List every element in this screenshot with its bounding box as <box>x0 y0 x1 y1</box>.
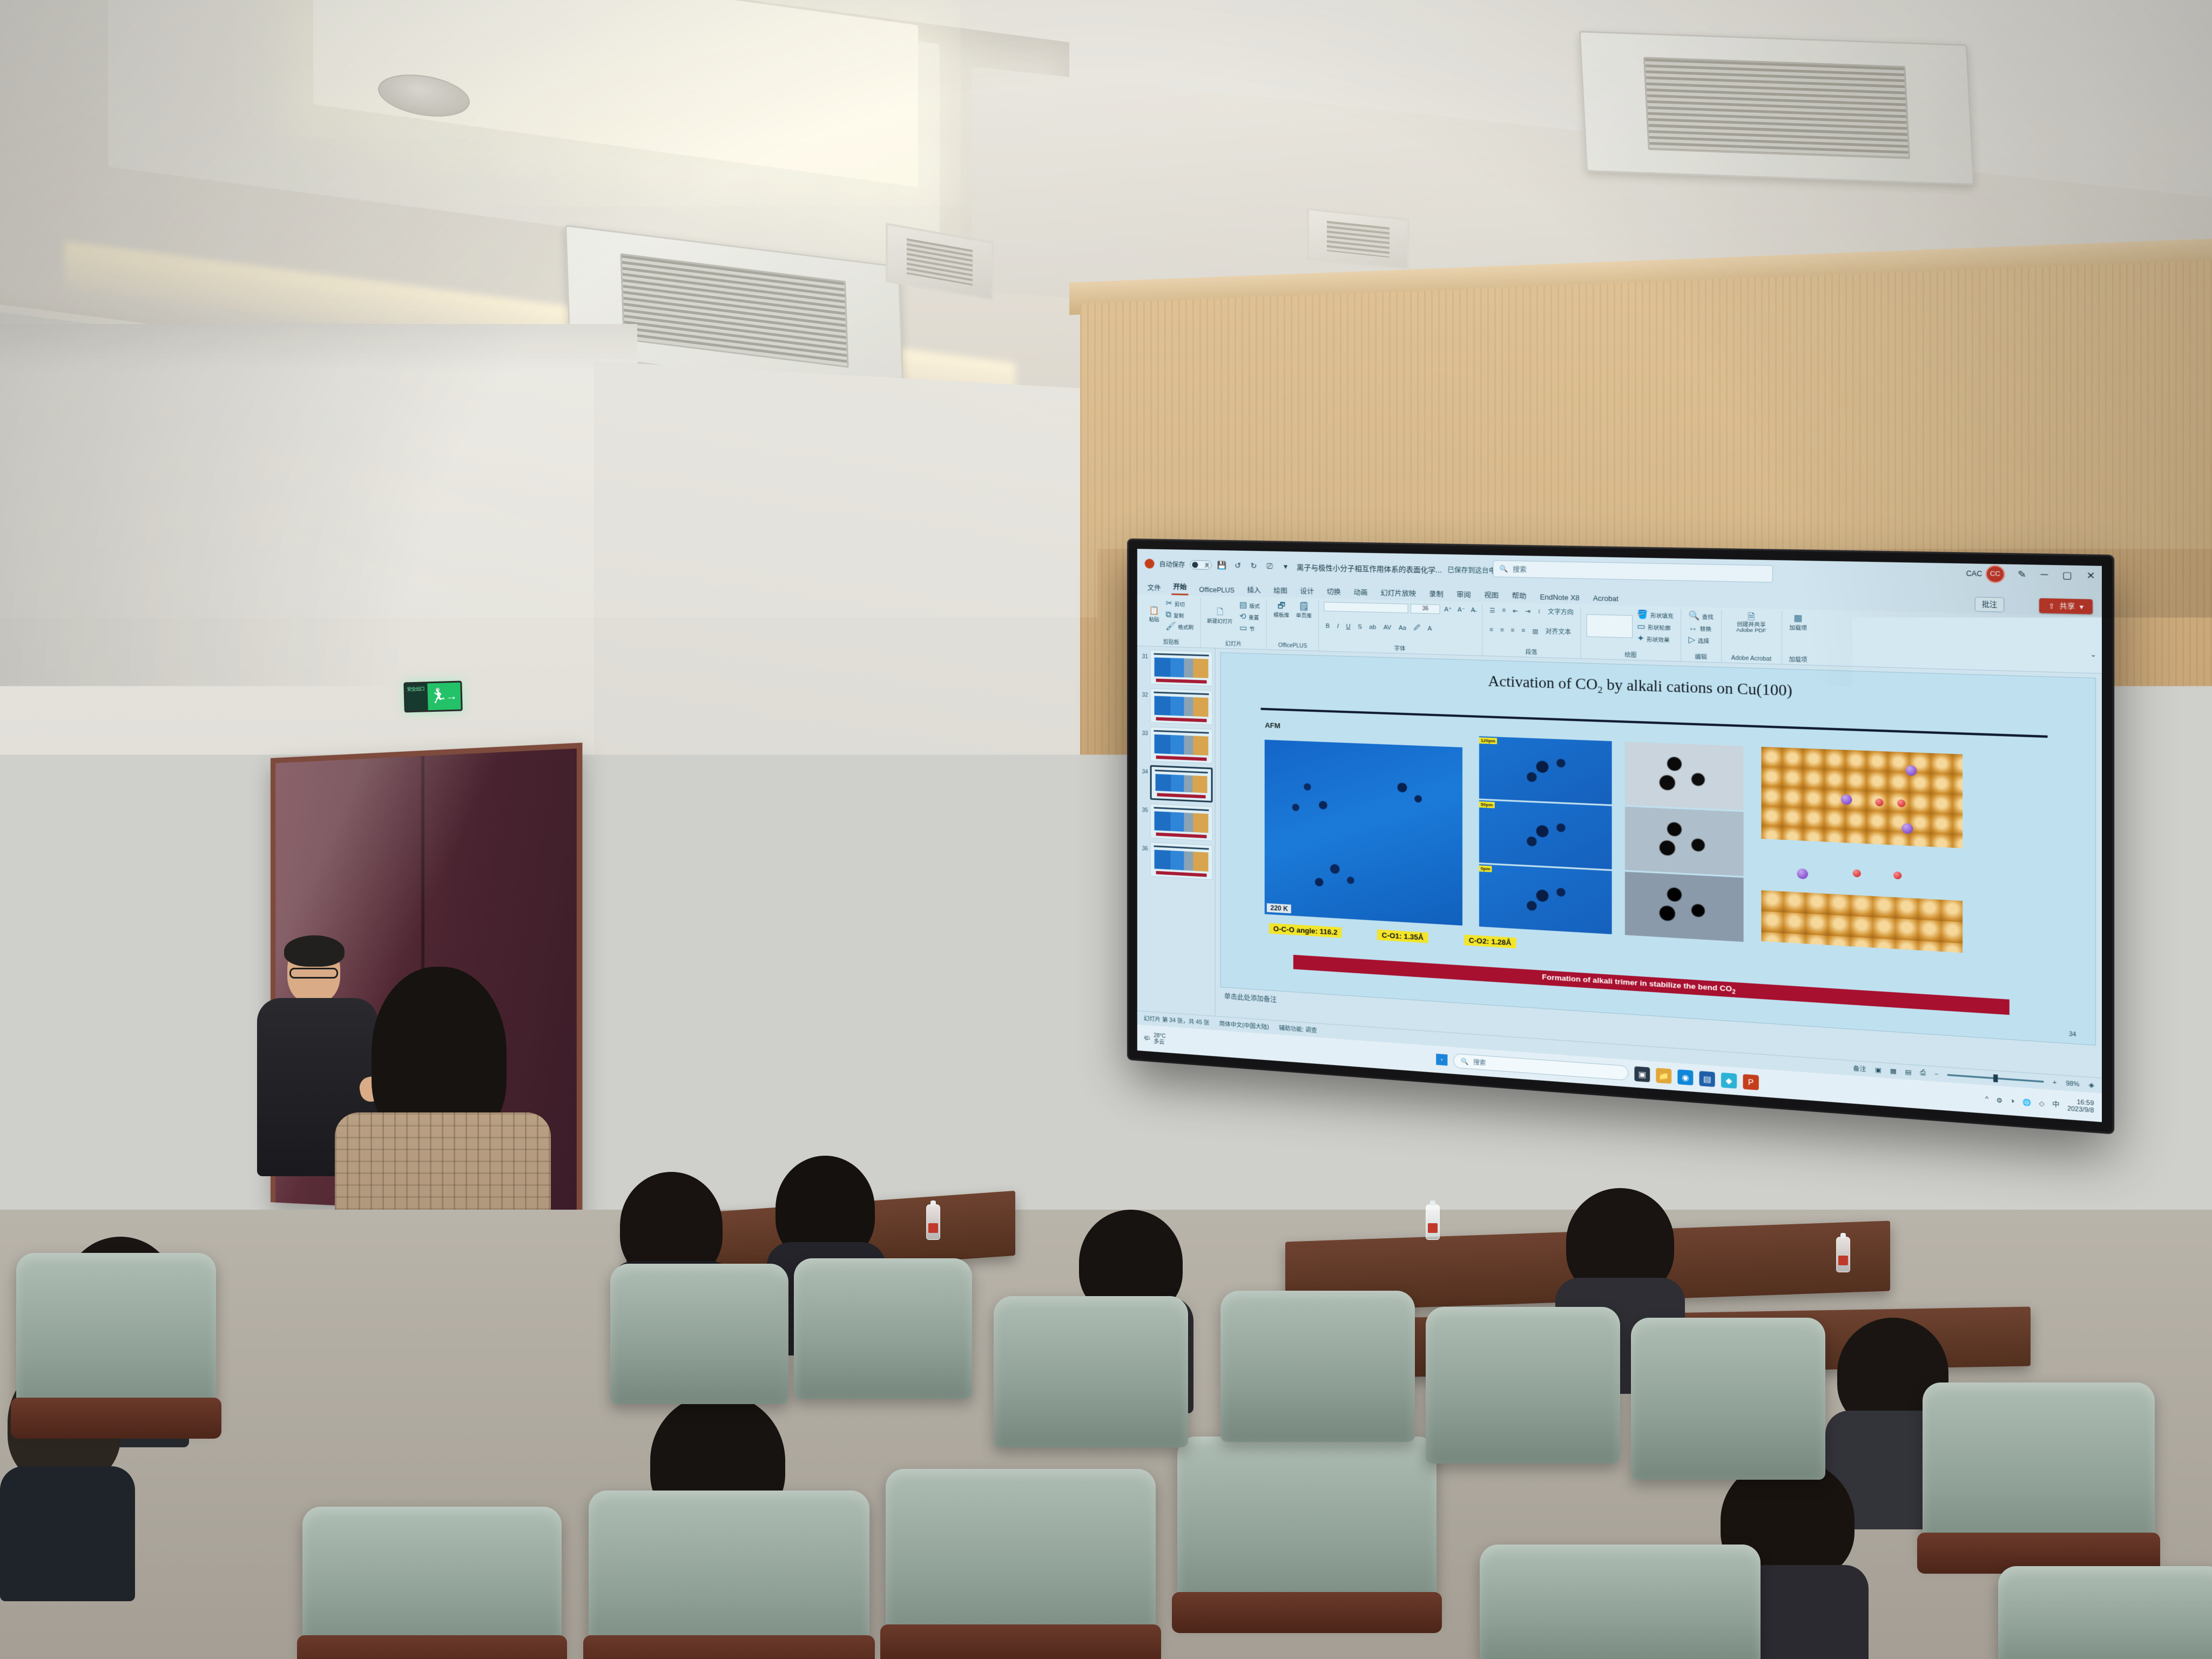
new-slide-label: 新建幻灯片 <box>1207 616 1233 624</box>
present-icon[interactable]: ⎚ <box>1264 561 1275 572</box>
shape-gallery[interactable] <box>1587 614 1633 638</box>
redo-icon[interactable]: ↻ <box>1248 560 1259 571</box>
section-label: 节 <box>1250 624 1255 632</box>
ribbon-group-paragraph: ☰ ≡ ⇤ ⇥ ↕ 文字方向 ≡ ≡ ≡ ≡ ▥ 对齐文本 <box>1482 604 1581 658</box>
editor-body: 31 32 33 34 <box>1137 646 2102 1077</box>
file-explorer-icon[interactable]: 📁 <box>1656 1068 1671 1084</box>
shape-fill-label: 形状填充 <box>1650 611 1673 619</box>
slide-number: 34 <box>2069 1031 2076 1038</box>
create-share-pdf-label: 创建并共享 Adobe PDF <box>1729 622 1774 635</box>
underline-icon[interactable]: U <box>1344 623 1352 630</box>
alkali-cation <box>1841 794 1852 805</box>
seat <box>994 1296 1188 1447</box>
chevron-down-icon: ▾ <box>2080 602 2083 611</box>
edge-icon[interactable]: ◉ <box>1677 1069 1693 1085</box>
fit-to-window-icon[interactable]: ◈ <box>2089 1081 2094 1089</box>
addins-button[interactable]: ▦ 加载项 <box>1788 612 1809 633</box>
height-label: 120pm <box>1479 737 1498 744</box>
store-icon[interactable]: ▤ <box>1700 1071 1715 1087</box>
addins-icon: ▦ <box>1793 614 1802 623</box>
zoom-slider[interactable] <box>1947 1074 2044 1083</box>
shape-outline-button[interactable]: ▭形状轮廓 <box>1635 621 1675 633</box>
tab-shitu[interactable]: 视图 <box>1482 588 1500 603</box>
tab-kaishi[interactable]: 开始 <box>1171 580 1188 596</box>
ribbon-group-officeplus: 🗗 模板库 🗒 单页库 OfficePLUS <box>1267 599 1319 651</box>
increase-font-icon[interactable]: A⁺ <box>1442 606 1453 613</box>
italic-icon[interactable]: I <box>1336 623 1340 630</box>
clock-date: 2023/9/8 <box>2067 1105 2094 1114</box>
afm-height-series: 120pm 50pm 0pm <box>1479 736 1611 934</box>
numbering-icon[interactable]: ≡ <box>1500 607 1507 614</box>
template-label: 模板库 <box>1273 611 1289 619</box>
share-icon: ⇪ <box>2048 602 2055 610</box>
tab-bangzhu[interactable]: 帮助 <box>1510 589 1528 603</box>
change-case-icon[interactable]: Aa <box>1397 624 1408 631</box>
copper-atom-row <box>1762 891 1963 953</box>
reset-label: 重置 <box>1249 613 1259 621</box>
presenter-laptop <box>786 968 867 1009</box>
slide-title[interactable]: Activation of CO2 by alkali cations on C… <box>1269 666 2038 710</box>
close-icon[interactable]: ✕ <box>2087 570 2095 582</box>
emergency-exit-sign: 安全出口 <box>403 681 463 713</box>
wall-outlet <box>162 994 191 1020</box>
copper-surface-side-view[interactable] <box>1762 857 1963 953</box>
layout-button[interactable]: ▤版式 <box>1238 600 1262 611</box>
layout-label: 版式 <box>1250 602 1260 610</box>
seat <box>1220 1291 1415 1442</box>
paste-label: 粘贴 <box>1149 615 1159 623</box>
water-bottle <box>1836 1237 1850 1272</box>
afm-label: AFM <box>1265 721 1280 730</box>
ribbon-group-clipboard: 📋 粘贴 ✂剪切 ⧉复制 🖌格式刷 剪贴板 <box>1143 597 1201 648</box>
tab-wenjian[interactable]: 文件 <box>1146 581 1163 595</box>
group-label-clipboard: 剪贴板 <box>1148 636 1195 646</box>
thumbnail-number: 35 <box>1139 803 1148 814</box>
accessibility-label[interactable]: 辅助功能: 调查 <box>1279 1024 1317 1035</box>
reading-view-icon[interactable]: ▤ <box>1905 1068 1912 1076</box>
tab-luzhi[interactable]: 录制 <box>1427 587 1445 602</box>
ime-icon[interactable]: 中 <box>2052 1100 2059 1110</box>
autosave-state: 关 <box>1204 561 1209 568</box>
weather-icon: 🌤 <box>1144 1035 1151 1042</box>
align-right-icon[interactable]: ≡ <box>1509 627 1516 634</box>
simulation-series <box>1624 741 1743 942</box>
format-painter-icon: 🖌 <box>1165 622 1176 631</box>
seat <box>1923 1382 2155 1561</box>
shape-fill-icon: 🪣 <box>1637 610 1648 619</box>
current-slide[interactable]: Activation of CO2 by alkali cations on C… <box>1221 653 2095 1045</box>
thumbnail-number: 31 <box>1139 650 1148 660</box>
show-hidden-icons[interactable]: ^ <box>1985 1096 1988 1103</box>
font-size-input[interactable]: 36 <box>1411 604 1440 614</box>
group-label-drawing: 绘图 <box>1587 648 1675 660</box>
tab-endnote[interactable]: EndNote X8 <box>1538 592 1581 604</box>
afm-height-panel[interactable]: 0pm <box>1479 864 1611 934</box>
tab-acrobat[interactable]: Acrobat <box>1591 594 1621 605</box>
layout-icon: ▤ <box>1239 601 1247 610</box>
weather-desc: 多云 <box>1154 1038 1165 1046</box>
find-button[interactable]: 🔍查找 <box>1687 610 1715 622</box>
wechat-work-icon[interactable]: ◆ <box>1721 1073 1737 1089</box>
align-text-button[interactable]: 对齐文本 <box>1543 626 1573 636</box>
shape-effects-icon: ✦ <box>1637 634 1644 643</box>
copper-surface-top-view[interactable] <box>1762 746 1963 848</box>
search-placeholder: 搜索 <box>1513 564 1527 574</box>
seat <box>302 1507 562 1659</box>
powerpoint-icon[interactable]: P <box>1743 1074 1758 1090</box>
paste-button[interactable]: 📋 粘贴 <box>1148 605 1161 624</box>
thumbnail-preview[interactable] <box>1150 688 1213 725</box>
zoom-out-icon[interactable]: − <box>1934 1070 1938 1078</box>
copy-label: 复制 <box>1174 611 1184 619</box>
notes-button[interactable]: 备注 <box>1853 1064 1866 1074</box>
scissors-icon: ✂ <box>1165 599 1172 608</box>
alkali-cation <box>1901 823 1913 834</box>
ceiling-square-vent <box>1307 208 1410 271</box>
slide-sorter-icon[interactable]: ▩ <box>1890 1067 1897 1075</box>
thumbnail-item[interactable]: 31 <box>1139 650 1213 687</box>
simulation-panel[interactable] <box>1624 741 1743 810</box>
slide-title-suffix: by alkali cations on Cu(100) <box>1603 676 1792 699</box>
thumbnail-preview[interactable] <box>1150 842 1213 880</box>
decrease-indent-icon[interactable]: ⇤ <box>1511 607 1520 615</box>
powerpoint-window: 自动保存 关 💾 ↺ ↻ ⎚ ▾ 离子与极性小分子相互作用体系的表面化学... … <box>1137 549 2102 1122</box>
replace-button[interactable]: ↔替换 <box>1687 622 1713 633</box>
reset-icon: ⟲ <box>1239 612 1246 621</box>
oxygen-atom <box>1897 799 1905 807</box>
shape-outline-icon: ▭ <box>1637 622 1645 631</box>
window-controls[interactable]: CAC CC ✎ ─ ▢ ✕ <box>1966 566 2095 584</box>
taskbar-search-input[interactable]: 🔍 搜索 <box>1453 1053 1628 1081</box>
alkali-cation <box>1905 765 1917 776</box>
autosave-toggle[interactable]: 关 <box>1190 560 1211 570</box>
shape-effects-button[interactable]: ✦形状效果 <box>1635 633 1675 645</box>
create-share-pdf-button[interactable]: 🗎 创建并共享 Adobe PDF <box>1727 611 1776 636</box>
temperature-label: 220 K <box>1267 903 1291 914</box>
alkali-cation <box>1797 868 1809 879</box>
avatar: CC <box>1987 567 2004 582</box>
paste-icon: 📋 <box>1149 606 1159 614</box>
task-view-icon[interactable]: ▣ <box>1634 1066 1650 1082</box>
page-library-button[interactable]: 🗒 单页库 <box>1294 601 1313 621</box>
tab-charu[interactable]: 插入 <box>1245 583 1263 597</box>
format-painter-label: 格式刷 <box>1178 623 1193 631</box>
shape-outline-label: 形状轮廓 <box>1648 623 1670 631</box>
thumbnail-number: 34 <box>1139 765 1148 775</box>
replace-label: 替换 <box>1700 624 1711 632</box>
font-color-icon[interactable]: A <box>1426 625 1434 632</box>
cut-button[interactable]: ✂剪切 <box>1164 598 1195 609</box>
seat <box>1998 1566 2212 1659</box>
account-label: CAC <box>1966 569 1982 578</box>
language-label[interactable]: 简体中文(中国大陆) <box>1219 1020 1269 1031</box>
slide-thumbnail-panel[interactable]: 31 32 33 34 <box>1137 646 1216 1016</box>
group-label-acrobat: Adobe Acrobat <box>1727 654 1776 663</box>
water-bottle <box>1426 1204 1440 1240</box>
tab-huandengpian[interactable]: 幻灯片放映 <box>1379 586 1418 601</box>
afm-height-panel[interactable]: 120pm <box>1479 736 1611 804</box>
slide-editing-area: Activation of CO2 by alkali cations on C… <box>1216 649 2102 1078</box>
search-icon: 🔍 <box>1461 1057 1469 1065</box>
addins-label: 加载项 <box>1789 623 1807 632</box>
presentation-display: 自动保存 关 💾 ↺ ↻ ⎚ ▾ 离子与极性小分子相互作用体系的表面化学... … <box>1129 540 2112 1132</box>
title-underline <box>1261 708 2048 738</box>
venue-sign-text: 化学与化工学院 <box>778 1049 891 1070</box>
group-label-font: 字体 <box>1324 640 1477 654</box>
undo-icon[interactable]: ↺ <box>1232 560 1243 571</box>
thumbnail-number: 36 <box>1139 841 1148 852</box>
save-icon[interactable]: 💾 <box>1217 559 1228 571</box>
presenter-top <box>880 940 983 1080</box>
height-label: 50pm <box>1479 801 1495 808</box>
ribbon-group-addins: ▦ 加载项 加载项 <box>1782 611 1815 665</box>
running-person-icon <box>427 683 461 711</box>
line-spacing-icon[interactable]: ↕ <box>1536 608 1542 615</box>
select-button[interactable]: ▷选择 <box>1687 635 1711 646</box>
weather-widget[interactable]: 🌤 28°C 多云 <box>1144 1032 1166 1046</box>
tab-sheji[interactable]: 设计 <box>1298 584 1316 598</box>
windows-start-icon[interactable] <box>1436 1054 1447 1065</box>
shape-effects-label: 形状效果 <box>1647 635 1669 643</box>
simulation-panel[interactable] <box>1624 872 1743 942</box>
oxygen-atom <box>1875 798 1883 806</box>
thumbnail-number: 32 <box>1139 688 1148 699</box>
taskbar-search-placeholder: 搜索 <box>1473 1057 1486 1067</box>
clear-formatting-icon[interactable]: A̶ <box>1469 606 1476 613</box>
tab-shenyue[interactable]: 审阅 <box>1455 588 1473 602</box>
replace-icon: ↔ <box>1688 623 1697 632</box>
strikethrough-icon[interactable]: ab <box>1367 624 1378 631</box>
wall-outlet <box>199 993 228 1019</box>
copy-button[interactable]: ⧉复制 <box>1164 610 1195 621</box>
simulation-panel[interactable] <box>1624 807 1743 876</box>
height-label: 0pm <box>1479 865 1492 872</box>
co2-length-tag: C-O2: 1.28Å <box>1464 934 1516 948</box>
share-label: 共享 <box>2059 601 2075 611</box>
format-painter-button[interactable]: 🖌格式刷 <box>1164 621 1195 632</box>
tab-huitu[interactable]: 绘图 <box>1272 584 1289 598</box>
reset-button[interactable]: ⟲重置 <box>1238 611 1262 622</box>
air-conditioner-vent <box>1579 31 1975 185</box>
lecture-hall-scene: 安全出口 自动保存 关 💾 ↺ ↻ ⎚ ▾ <box>0 0 2212 1659</box>
water-bottle <box>926 1204 940 1240</box>
find-label: 查找 <box>1702 612 1714 620</box>
seat <box>1177 1437 1437 1620</box>
increase-indent-icon[interactable]: ⇥ <box>1523 608 1532 615</box>
slide-count-label[interactable]: 幻灯片 第 34 张，共 45 张 <box>1144 1014 1210 1027</box>
group-label-slides: 幻灯片 <box>1205 637 1262 648</box>
document-title: 离子与极性小分子相互作用体系的表面化学... <box>1297 561 1442 575</box>
thumbnail-preview[interactable] <box>1150 765 1213 802</box>
template-library-button[interactable]: 🗗 模板库 <box>1272 601 1291 619</box>
seat <box>610 1264 788 1404</box>
group-label-officeplus: OfficePLUS <box>1272 641 1313 649</box>
afm-overview-image[interactable]: 220 K <box>1265 740 1462 926</box>
ribbon-group-editing: 🔍查找 ↔替换 ▷选择 编辑 <box>1681 609 1722 663</box>
thumbnail-item[interactable]: 33 <box>1139 726 1213 764</box>
template-icon: 🗗 <box>1278 602 1285 610</box>
align-left-icon[interactable]: ≡ <box>1488 626 1495 633</box>
chevron-up-icon[interactable]: ⌄ <box>2090 650 2096 659</box>
thumbnail-item[interactable]: 32 <box>1139 688 1213 725</box>
search-input[interactable]: 🔍 搜索 <box>1493 560 1773 583</box>
search-icon: 🔍 <box>1688 611 1700 620</box>
zoom-level-label[interactable]: 98% <box>2066 1080 2079 1088</box>
tab-officeplus[interactable]: OfficePLUS <box>1197 585 1236 597</box>
ribbon-group-acrobat: 🗎 创建并共享 Adobe PDF Adobe Acrobat <box>1722 610 1782 664</box>
slideshow-icon[interactable]: ⎙ <box>1920 1069 1926 1077</box>
tab-donghua[interactable]: 动画 <box>1352 585 1369 599</box>
powerpoint-icon <box>1145 559 1155 569</box>
seat <box>886 1469 1156 1653</box>
text-direction-button[interactable]: 文字方向 <box>1546 607 1575 617</box>
presenter <box>875 875 988 1242</box>
adobe-pdf-icon: 🗎 <box>1748 613 1755 622</box>
exit-sign-label-cn: 安全出口 <box>405 683 428 711</box>
globe-icon[interactable]: 🌐 <box>2022 1098 2031 1107</box>
comments-button[interactable]: 批注 <box>1975 597 2005 612</box>
thumbnail-preview[interactable] <box>1150 650 1213 686</box>
system-tray[interactable]: ^ ⚙ ◑ 🌐 ◇ 中 16:59 2023/9/8 <box>1985 1092 2094 1114</box>
columns-icon[interactable]: ▥ <box>1530 627 1540 635</box>
seat <box>1631 1318 1825 1480</box>
page-library-icon: 🗒 <box>1299 602 1310 611</box>
shape-fill-button[interactable]: 🪣形状填充 <box>1635 609 1675 621</box>
slide-title-prefix: Activation of CO <box>1488 673 1597 693</box>
thumbnail-item-selected[interactable]: 34 <box>1139 765 1213 802</box>
share-button[interactable]: ⇪ 共享 ▾ <box>2039 598 2093 615</box>
oco-angle-tag: O-C-O angle: 116.2 <box>1269 923 1342 938</box>
tab-qiehuan[interactable]: 切换 <box>1325 585 1343 599</box>
decrease-font-icon[interactable]: A⁻ <box>1456 606 1467 613</box>
taskbar-clock[interactable]: 16:59 2023/9/8 <box>2067 1098 2094 1114</box>
thumbnail-number: 33 <box>1139 726 1148 737</box>
account-chip[interactable]: CAC CC <box>1966 566 2004 582</box>
font-name-input[interactable] <box>1324 602 1408 613</box>
app-icon-red[interactable]: ◑ <box>2010 1097 2014 1105</box>
network-icon[interactable]: ⚙ <box>1996 1096 2002 1104</box>
oxygen-atom <box>1893 872 1901 880</box>
minimize-icon[interactable]: ─ <box>2041 570 2048 581</box>
group-label-paragraph: 段落 <box>1488 645 1575 657</box>
bold-icon[interactable]: B <box>1324 623 1332 630</box>
group-label-editing: 编辑 <box>1687 650 1715 661</box>
pen-icon[interactable]: ✎ <box>2018 569 2026 581</box>
page-library-label: 单页库 <box>1296 611 1312 619</box>
new-slide-button[interactable]: 🗋 新建幻灯片 <box>1205 606 1235 626</box>
seat <box>1480 1545 1761 1659</box>
quick-access-toolbar[interactable]: 自动保存 关 💾 ↺ ↻ ⎚ ▾ <box>1145 558 1291 572</box>
oxygen-atom <box>1853 869 1861 878</box>
select-label: 选择 <box>1698 636 1709 644</box>
chevron-down-icon[interactable]: ▾ <box>1280 561 1291 572</box>
seat <box>794 1258 972 1399</box>
normal-view-icon[interactable]: ▣ <box>1875 1066 1881 1074</box>
zoom-in-icon[interactable]: + <box>2053 1079 2056 1087</box>
section-icon: ▭ <box>1239 624 1247 632</box>
cut-label: 剪切 <box>1175 599 1185 608</box>
ribbon-group-slides: 🗋 新建幻灯片 ▤版式 ⟲重置 ▭节 幻灯片 <box>1201 598 1267 649</box>
search-icon: 🔍 <box>1499 565 1508 573</box>
afm-height-panel[interactable]: 50pm <box>1479 800 1611 869</box>
group-label-addins: 加载项 <box>1788 653 1809 663</box>
section-button[interactable]: ▭节 <box>1238 623 1262 633</box>
autosave-label: 自动保存 <box>1159 559 1185 569</box>
seat <box>1426 1307 1620 1464</box>
co1-length-tag: C-O1: 1.35Å <box>1377 929 1428 943</box>
ribbon-group-font: 36 A⁺ A⁻ A̶ B I U S ab AV Aa 🖉 A <box>1319 601 1482 656</box>
character-spacing-icon[interactable]: AV <box>1382 624 1393 631</box>
thumbnail-preview[interactable] <box>1150 804 1213 841</box>
select-icon: ▷ <box>1688 636 1695 644</box>
thumbnail-preview[interactable] <box>1150 726 1213 764</box>
thumbnail-item[interactable]: 35 <box>1139 803 1213 841</box>
copy-icon: ⧉ <box>1165 611 1171 619</box>
thumbnail-item[interactable]: 36 <box>1139 841 1213 880</box>
text-highlight-icon[interactable]: 🖉 <box>1412 623 1422 633</box>
bullets-icon[interactable]: ☰ <box>1488 606 1497 614</box>
conclusion-text: Formation of alkali trimer in stabilize … <box>1542 973 1732 993</box>
new-slide-icon: 🗋 <box>1217 608 1223 616</box>
glasses <box>906 905 942 915</box>
align-center-icon[interactable]: ≡ <box>1499 626 1506 633</box>
shadow-icon[interactable]: S <box>1356 623 1364 630</box>
ribbon-group-drawing: 🪣形状填充 ▭形状轮廓 ✦形状效果 绘图 <box>1581 606 1681 661</box>
volume-icon[interactable]: ◇ <box>2039 1100 2045 1108</box>
conclusion-subscript: 2 <box>1732 989 1735 995</box>
restore-icon[interactable]: ▢ <box>2062 569 2072 581</box>
justify-icon[interactable]: ≡ <box>1520 627 1527 634</box>
seat <box>589 1491 869 1659</box>
seat <box>16 1253 216 1426</box>
